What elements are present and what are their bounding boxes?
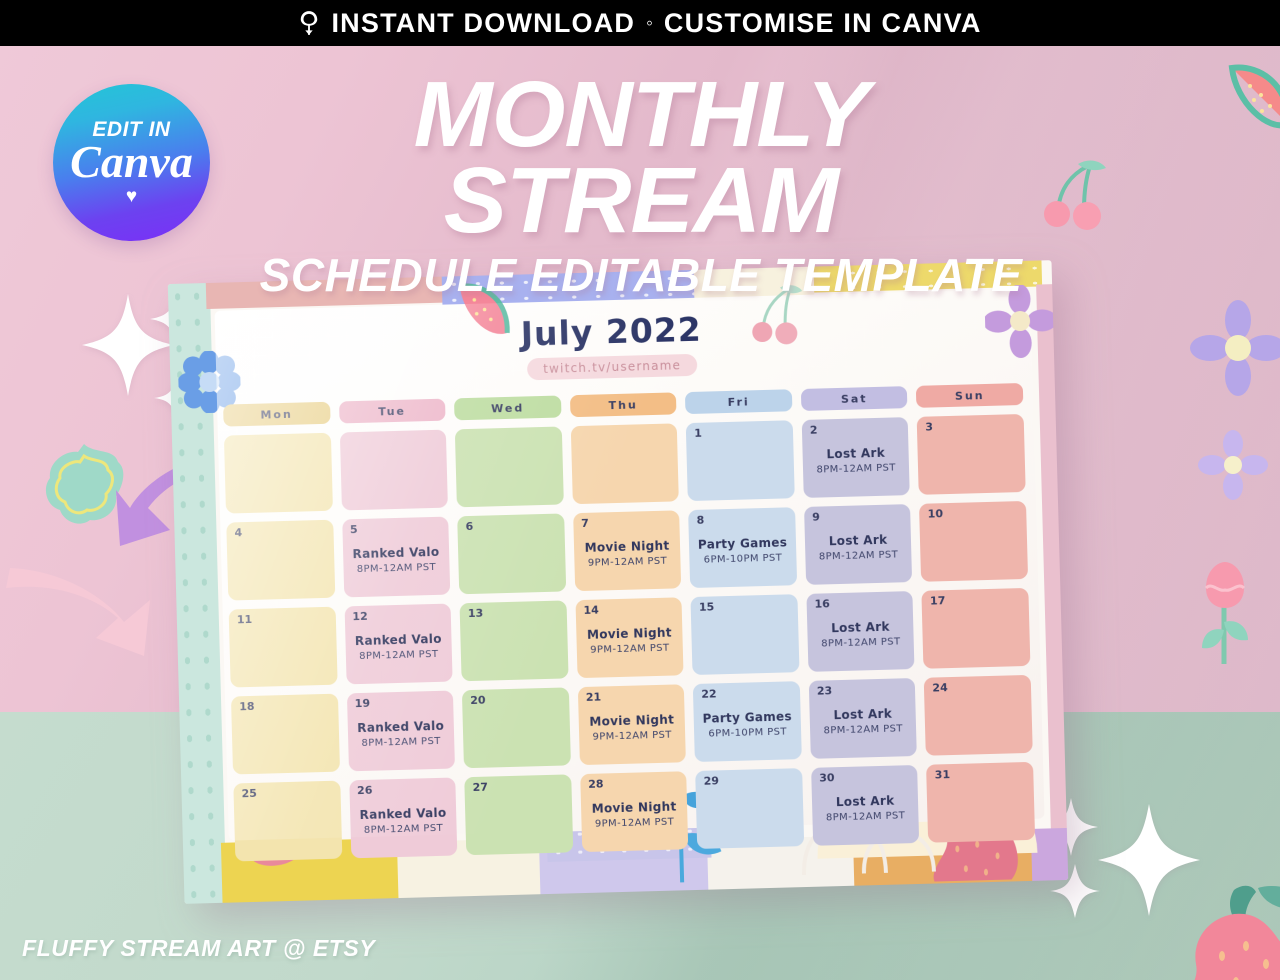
day-number: 23: [817, 684, 833, 697]
day-number: 2: [810, 424, 818, 437]
calendar-day-25[interactable]: 25: [233, 781, 342, 862]
day-number: 9: [812, 511, 820, 524]
calendar-day-30[interactable]: 30Lost Ark8PM-12AM PST: [811, 765, 920, 846]
calendar-day-12[interactable]: 12Ranked Valo8PM-12AM PST: [344, 604, 453, 685]
calendar-day-31[interactable]: 31: [926, 762, 1035, 843]
day-number: 15: [699, 600, 715, 613]
calendar-day-7[interactable]: 7Movie Night9PM-12AM PST: [573, 510, 682, 591]
calendar-day-21[interactable]: 21Movie Night9PM-12AM PST: [578, 684, 687, 765]
event-title: Lost Ark: [829, 533, 888, 549]
calendar-url-pill[interactable]: twitch.tv/username: [527, 354, 698, 381]
promo-banner: INSTANT DOWNLOAD ◦ CUSTOMISE IN CANVA: [0, 0, 1280, 46]
day-number: 1: [694, 427, 702, 440]
event-title: Ranked Valo: [352, 545, 439, 561]
event-title: Movie Night: [584, 539, 669, 555]
headline-main: MONTHLY STREAM: [228, 72, 1054, 243]
event-title: Ranked Valo: [359, 806, 446, 822]
day-number: 25: [241, 787, 257, 800]
event-time: 6PM-10PM PST: [704, 553, 783, 566]
calendar-week-row: 45Ranked Valo8PM-12AM PST67Movie Night9P…: [226, 501, 1028, 601]
day-number: 29: [704, 774, 720, 787]
day-number: 27: [472, 781, 488, 794]
day-number: 12: [352, 610, 368, 623]
calendar-day-14[interactable]: 14Movie Night9PM-12AM PST: [575, 597, 684, 678]
day-number: 14: [583, 604, 599, 617]
calendar-page: July 2022 twitch.tv/username MonTueWedTh…: [168, 260, 1068, 904]
day-header-wed: Wed: [454, 395, 561, 420]
event-title: Lost Ark: [826, 446, 885, 462]
calendar-day-1[interactable]: 1: [686, 420, 795, 501]
calendar-day-27[interactable]: 27: [464, 774, 573, 855]
calendar-day-9[interactable]: 9Lost Ark8PM-12AM PST: [804, 504, 913, 585]
calendar-day-22[interactable]: 22Party Games6PM-10PM PST: [693, 681, 802, 762]
canva-logo-icon: [298, 10, 320, 36]
event-time: 8PM-12AM PST: [821, 636, 901, 649]
day-header-mon: Mon: [223, 402, 330, 427]
event-title: Movie Night: [587, 626, 672, 642]
edit-in-canva-badge[interactable]: EDIT IN Canva ♥: [53, 84, 210, 241]
banner-text-right: CUSTOMISE IN CANVA: [664, 8, 982, 39]
calendar-day-28[interactable]: 28Movie Night9PM-12AM PST: [580, 771, 689, 852]
day-number: 26: [357, 784, 373, 797]
event-title: Lost Ark: [831, 620, 890, 636]
calendar-day-3[interactable]: 3: [917, 414, 1026, 495]
day-number: 11: [237, 613, 253, 626]
event-time: 9PM-12AM PST: [590, 643, 670, 656]
event-time: 8PM-12AM PST: [823, 723, 903, 736]
calendar-day-17[interactable]: 17: [922, 588, 1031, 669]
calendar-day-10[interactable]: 10: [919, 501, 1028, 582]
calendar-day-8[interactable]: 8Party Games6PM-10PM PST: [688, 507, 797, 588]
event-time: 6PM-10PM PST: [708, 726, 787, 739]
day-number: 6: [465, 520, 473, 533]
calendar-day-5[interactable]: 5Ranked Valo8PM-12AM PST: [342, 517, 451, 598]
day-number: 24: [932, 681, 948, 694]
calendar-day-4[interactable]: 4: [226, 520, 335, 601]
calendar-day-19[interactable]: 19Ranked Valo8PM-12AM PST: [346, 691, 455, 772]
event-title: Lost Ark: [836, 794, 895, 810]
event-time: 9PM-12AM PST: [595, 817, 675, 830]
day-number: 22: [701, 687, 717, 700]
day-header-fri: Fri: [685, 389, 792, 414]
event-time: 8PM-12AM PST: [826, 810, 906, 823]
day-number: 21: [586, 691, 602, 704]
banner-text-left: INSTANT DOWNLOAD: [331, 8, 635, 39]
day-number: 5: [350, 523, 358, 536]
day-number: 20: [470, 694, 486, 707]
calendar-grid: MonTueWedThuFriSatSun 12Lost Ark8PM-12AM…: [223, 383, 1035, 861]
day-number: 18: [239, 700, 255, 713]
event-time: 8PM-12AM PST: [361, 736, 441, 749]
calendar-day-6[interactable]: 6: [457, 513, 566, 594]
heart-icon: ♥: [126, 187, 137, 206]
calendar-week-row: 12Lost Ark8PM-12AM PST3: [224, 414, 1026, 514]
event-title: Movie Night: [589, 713, 674, 729]
calendar-day-18[interactable]: 18: [231, 694, 340, 775]
event-title: Ranked Valo: [357, 719, 444, 735]
calendar-day-blank[interactable]: [224, 433, 333, 514]
day-header-thu: Thu: [570, 392, 677, 417]
calendar-day-11[interactable]: 11: [229, 607, 338, 688]
day-number: 8: [696, 514, 704, 527]
calendar-day-29[interactable]: 29: [695, 768, 804, 849]
event-time: 8PM-12AM PST: [357, 562, 437, 575]
calendar-week-row: 1112Ranked Valo8PM-12AM PST1314Movie Nig…: [229, 588, 1031, 688]
calendar-day-20[interactable]: 20: [462, 687, 571, 768]
event-title: Lost Ark: [833, 707, 892, 723]
calendar-day-2[interactable]: 2Lost Ark8PM-12AM PST: [802, 417, 911, 498]
day-number: 13: [468, 607, 484, 620]
event-time: 9PM-12AM PST: [592, 730, 672, 743]
event-time: 9PM-12AM PST: [588, 556, 668, 569]
event-time: 8PM-12AM PST: [816, 462, 896, 475]
day-number: 16: [814, 597, 830, 610]
frame-band-bottom-lilac: [1031, 828, 1068, 881]
day-number: 28: [588, 777, 604, 790]
event-title: Movie Night: [592, 800, 677, 816]
calendar-day-blank[interactable]: [339, 430, 448, 511]
event-title: Ranked Valo: [355, 632, 442, 648]
calendar-day-24[interactable]: 24: [924, 675, 1033, 756]
calendar-day-26[interactable]: 26Ranked Valo8PM-12AM PST: [349, 777, 458, 858]
calendar-day-23[interactable]: 23Lost Ark8PM-12AM PST: [809, 678, 918, 759]
day-header-sun: Sun: [916, 383, 1023, 408]
calendar-weeks: 12Lost Ark8PM-12AM PST345Ranked Valo8PM-…: [224, 414, 1035, 861]
calendar-day-15[interactable]: 15: [691, 594, 800, 675]
day-number: 3: [925, 420, 933, 433]
day-number: 7: [581, 517, 589, 530]
calendar-day-13[interactable]: 13: [460, 600, 569, 681]
headline-block: MONTHLY STREAM SCHEDULE EDITABLE TEMPLAT…: [236, 72, 1046, 298]
day-number: 30: [819, 771, 835, 784]
day-number: 10: [928, 507, 944, 520]
calendar-week-row: 1819Ranked Valo8PM-12AM PST2021Movie Nig…: [231, 675, 1033, 775]
calendar-day-blank[interactable]: [455, 426, 564, 507]
badge-canva-label: Canva: [70, 139, 193, 186]
event-time: 8PM-12AM PST: [359, 649, 439, 662]
event-time: 8PM-12AM PST: [364, 823, 444, 836]
day-number: 19: [355, 697, 371, 710]
event-title: Party Games: [702, 709, 792, 725]
calendar-day-blank[interactable]: [570, 423, 679, 504]
day-header-tue: Tue: [339, 399, 446, 424]
event-time: 8PM-12AM PST: [819, 549, 899, 562]
headline-sub: SCHEDULE EDITABLE TEMPLATE: [236, 252, 1046, 298]
day-number: 31: [935, 768, 951, 781]
calendar-card: July 2022 twitch.tv/username MonTueWedTh…: [168, 260, 1068, 904]
event-title: Party Games: [698, 535, 788, 551]
banner-separator: ◦: [646, 14, 653, 33]
calendar-day-16[interactable]: 16Lost Ark8PM-12AM PST: [806, 591, 915, 672]
day-header-sat: Sat: [801, 386, 908, 411]
shop-watermark: FLUFFY STREAM ART @ ETSY: [22, 935, 375, 962]
day-number: 17: [930, 594, 946, 607]
day-number: 4: [234, 526, 242, 539]
